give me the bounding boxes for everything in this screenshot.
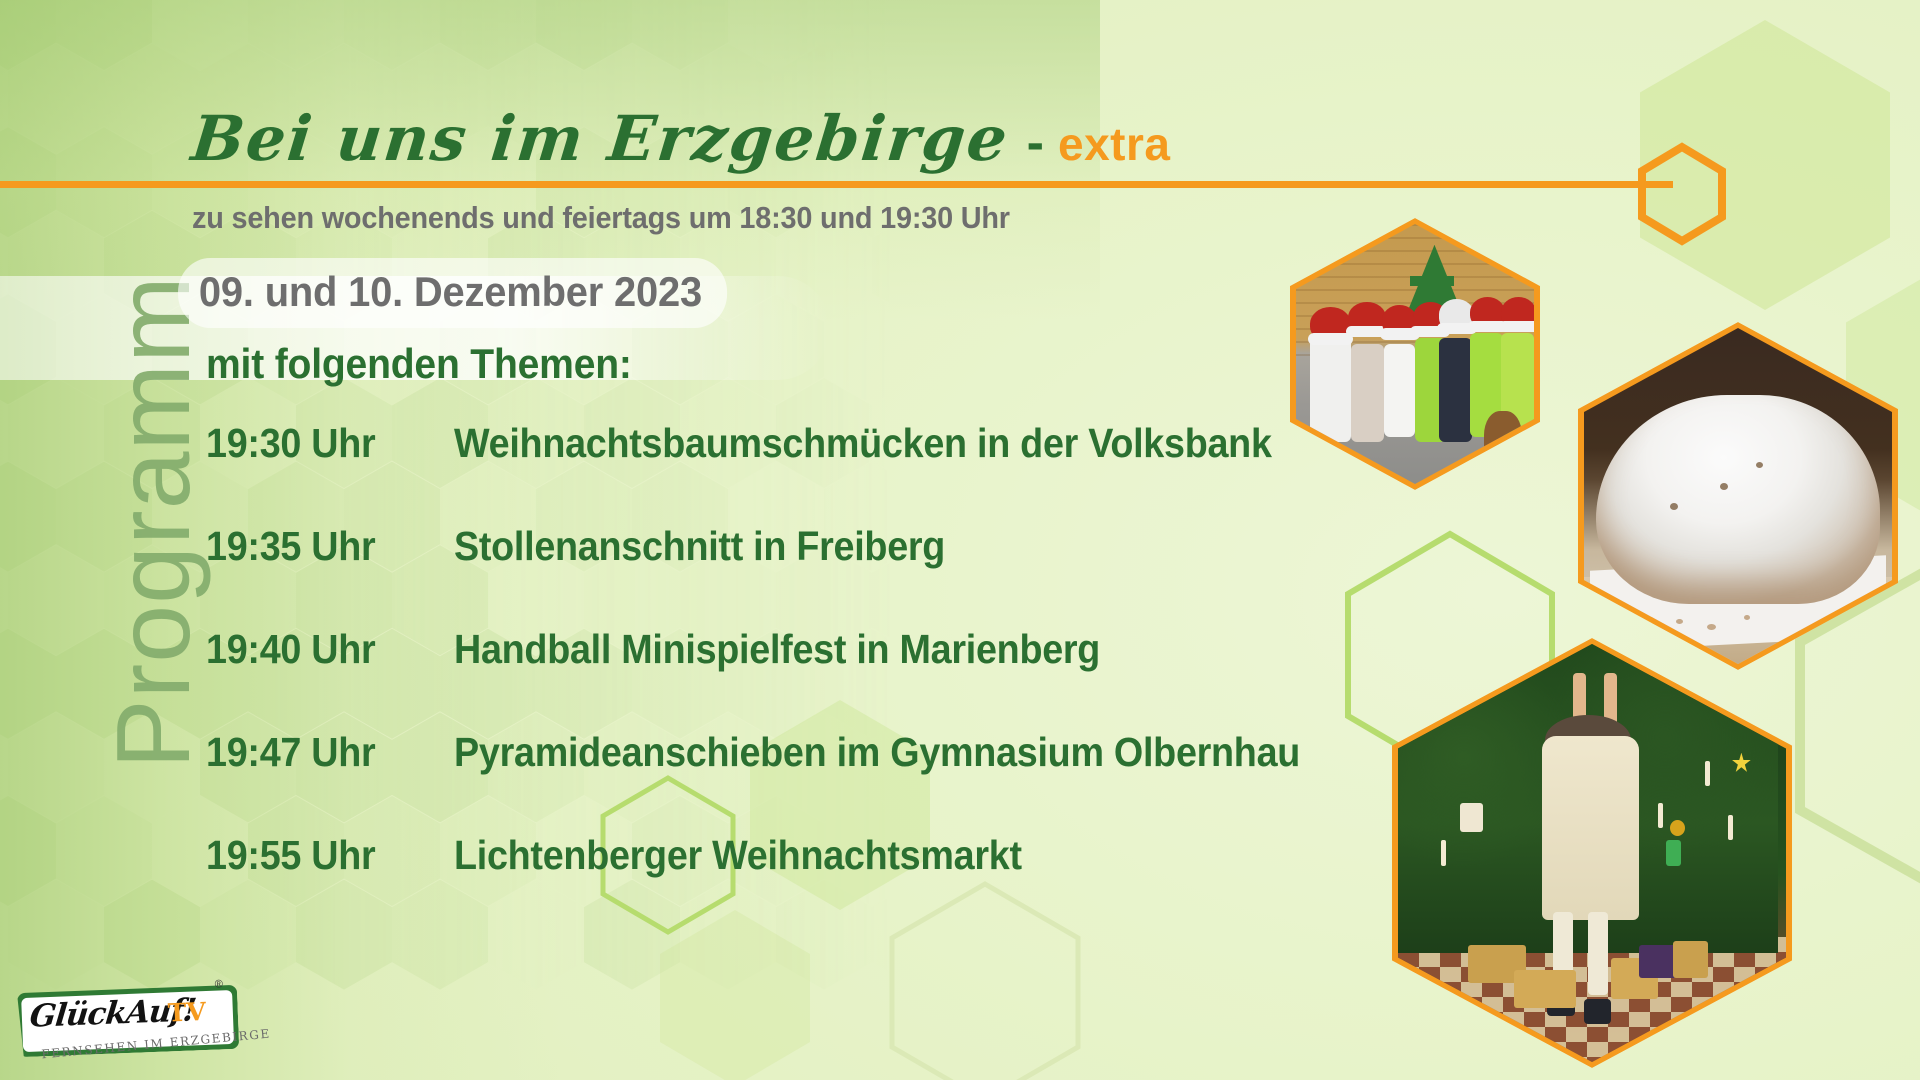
show-title-main: Bei uns im Erzgebirge bbox=[189, 108, 1012, 170]
program-time: 19:30 Uhr bbox=[206, 420, 434, 467]
program-row: 19:35 UhrStollenanschnitt in Freiberg bbox=[206, 523, 1386, 626]
program-time: 19:47 Uhr bbox=[206, 729, 434, 776]
person bbox=[1384, 344, 1415, 438]
program-topic: Lichtenberger Weihnachtsmarkt bbox=[454, 832, 1022, 879]
program-list: 19:30 UhrWeihnachtsbaumschmücken in der … bbox=[206, 420, 1386, 935]
program-topic: Pyramideanschieben im Gymnasium Olbernha… bbox=[454, 729, 1300, 776]
show-title-extra: extra bbox=[1058, 121, 1170, 167]
program-row: 19:30 UhrWeihnachtsbaumschmücken in der … bbox=[206, 420, 1386, 523]
person bbox=[1310, 338, 1350, 442]
candle bbox=[1658, 803, 1663, 828]
santa-hat-icon bbox=[1348, 302, 1386, 333]
candle bbox=[1705, 761, 1710, 786]
logo-registered-icon: ® bbox=[215, 978, 224, 990]
crumb bbox=[1670, 503, 1678, 510]
broadcast-times-subtitle: zu sehen wochenends und feiertags um 18:… bbox=[192, 200, 1010, 236]
program-row: 19:47 UhrPyramideanschieben im Gymnasium… bbox=[206, 729, 1386, 832]
coat bbox=[1542, 736, 1639, 920]
leg-right bbox=[1588, 912, 1607, 996]
channel-logo[interactable]: GlückAuf! TV ® FERNSEHEN IM ERZGEBIRGE bbox=[16, 968, 239, 1068]
program-topic: Stollenanschnitt in Freiberg bbox=[454, 523, 945, 570]
orange-divider-rule bbox=[0, 181, 1673, 188]
topics-intro: mit folgenden Themen: bbox=[206, 340, 632, 388]
ornament-green bbox=[1666, 840, 1682, 865]
santa-hat-icon bbox=[1310, 307, 1350, 341]
program-topic: Handball Minispielfest in Marienberg bbox=[454, 626, 1100, 673]
program-time: 19:40 Uhr bbox=[206, 626, 434, 673]
program-time: 19:55 Uhr bbox=[206, 832, 434, 879]
crumb bbox=[1676, 619, 1683, 624]
program-row: 19:55 UhrLichtenberger Weihnachtsmarkt bbox=[206, 832, 1386, 935]
crumb bbox=[1720, 483, 1728, 490]
program-time: 19:35 Uhr bbox=[206, 523, 434, 570]
santa-hat-icon bbox=[1501, 297, 1534, 328]
logo-tv-mark: TV bbox=[167, 999, 206, 1025]
broadcast-program-slide: Programm Bei uns im Erzgebirge - extra z… bbox=[0, 0, 1920, 1080]
broadcast-date: 09. und 10. Dezember 2023 bbox=[178, 258, 727, 328]
stollen-loaf bbox=[1596, 395, 1879, 603]
candle bbox=[1441, 840, 1446, 865]
candle bbox=[1728, 815, 1733, 840]
program-topic: Weihnachtsbaumschmücken in der Volksbank bbox=[454, 420, 1272, 467]
gift-box bbox=[1673, 941, 1708, 979]
gift-box bbox=[1639, 945, 1678, 978]
program-row: 19:40 UhrHandball Minispielfest in Marie… bbox=[206, 626, 1386, 729]
boot-right bbox=[1584, 999, 1611, 1024]
show-title: Bei uns im Erzgebirge - extra bbox=[192, 108, 1170, 170]
gift-box bbox=[1514, 970, 1576, 1008]
person bbox=[1351, 344, 1384, 443]
orange-hex-outline-icon bbox=[1636, 142, 1728, 251]
show-title-dash: - bbox=[1027, 117, 1044, 169]
person bbox=[1439, 338, 1472, 442]
tree-mural-band bbox=[1410, 276, 1454, 286]
ornament-white bbox=[1460, 803, 1483, 832]
